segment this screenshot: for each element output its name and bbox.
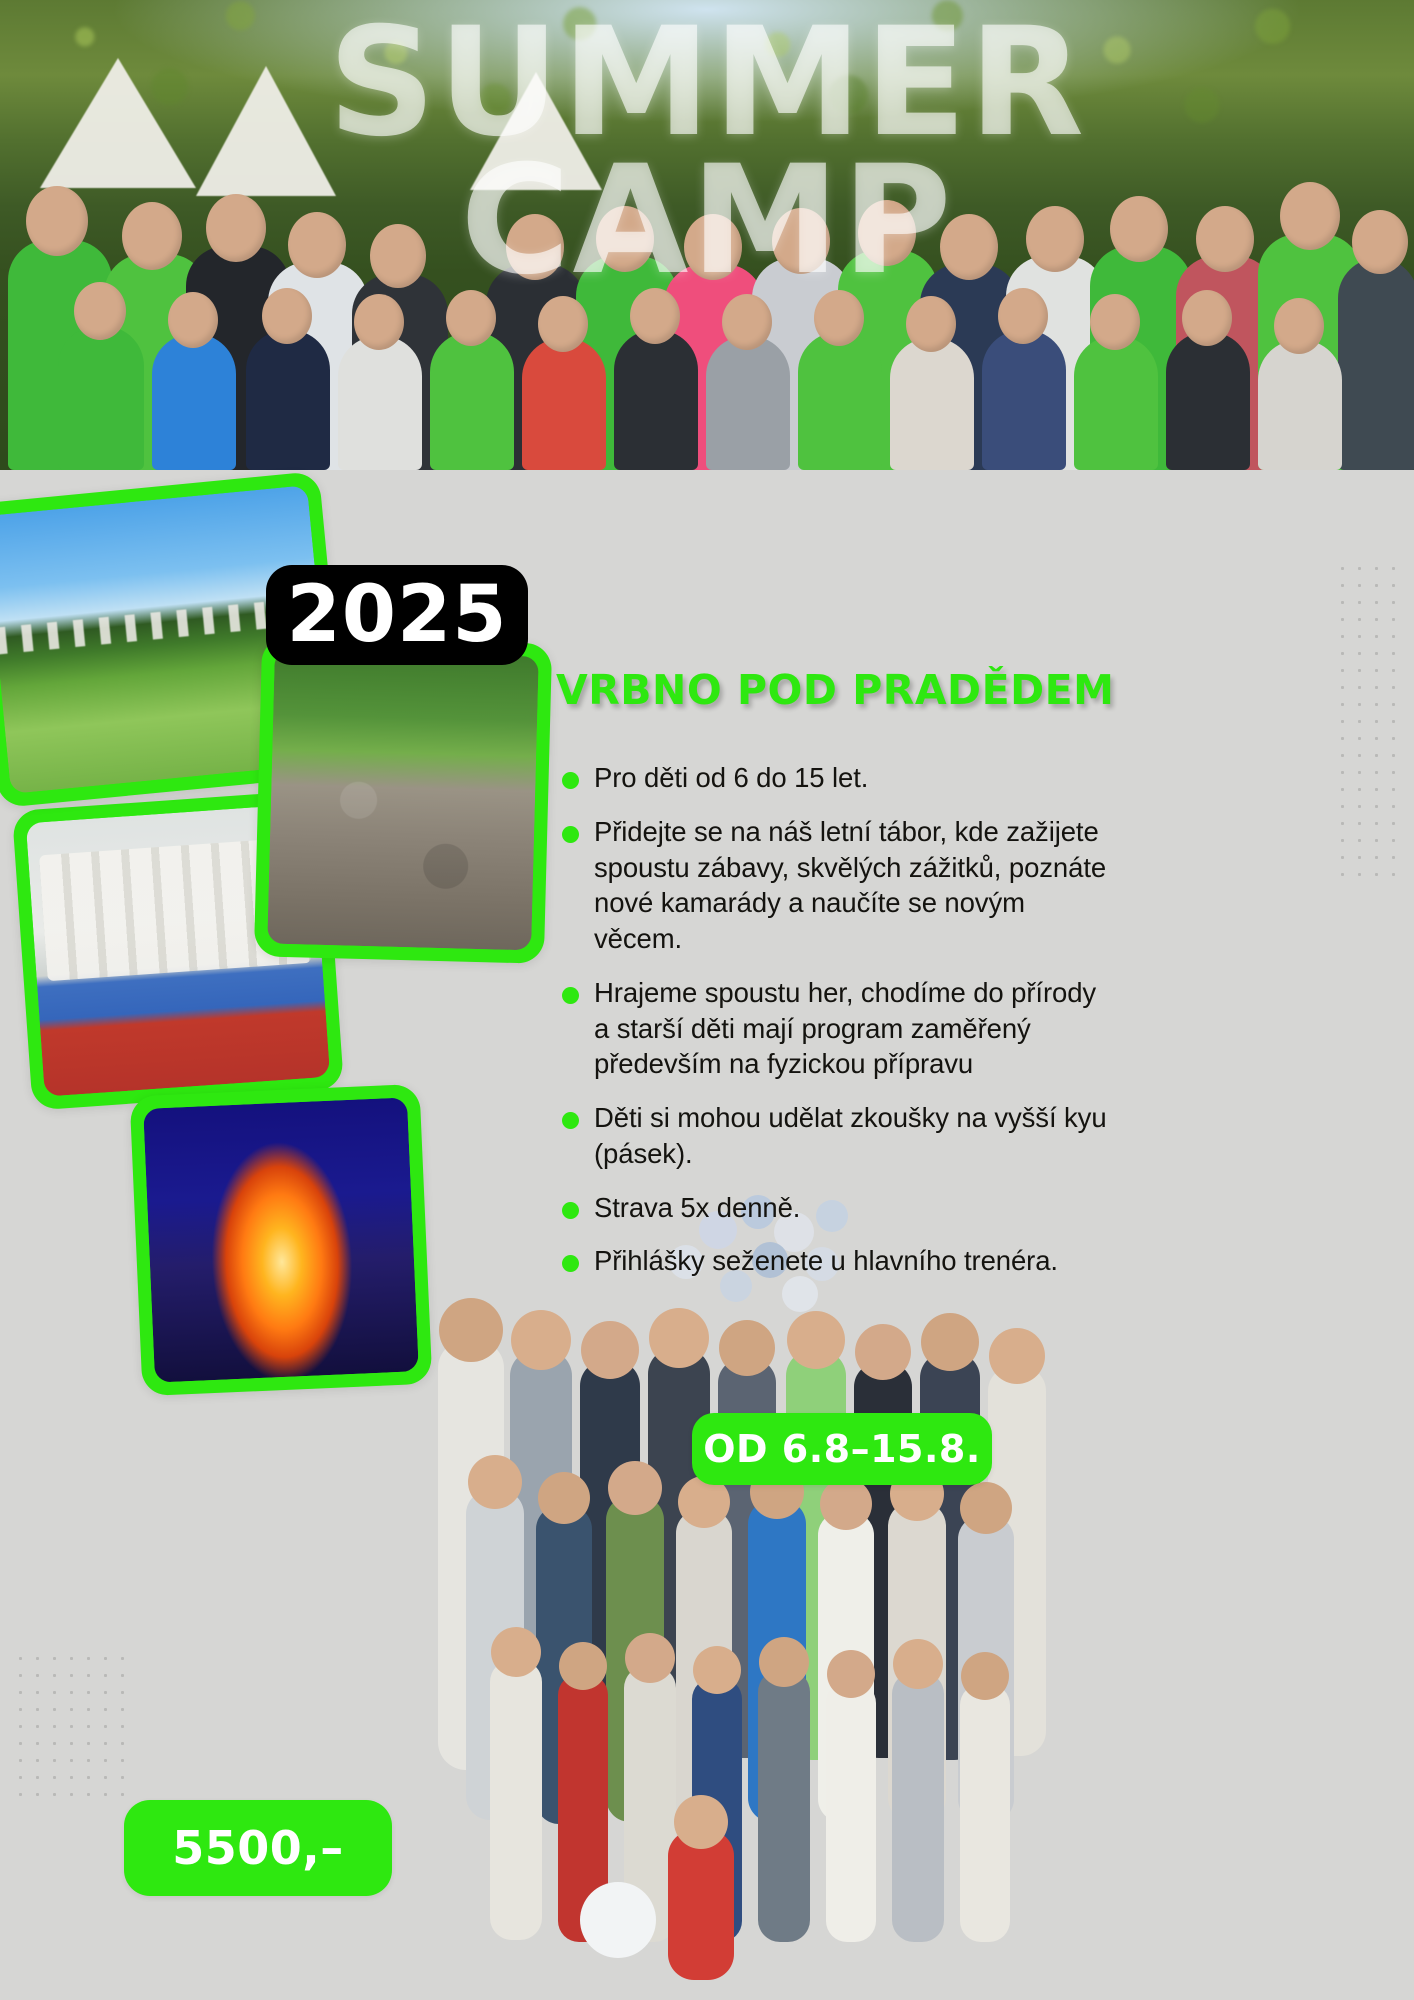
price-badge-label: 5500,–	[172, 1821, 344, 1875]
hiking-kids-photo	[254, 636, 552, 963]
price-badge: 5500,–	[124, 1800, 392, 1896]
list-item: Přidejte se na náš letní tábor, kde zaži…	[556, 814, 1116, 957]
hiking-image	[267, 650, 539, 951]
list-item: Strava 5x denně.	[556, 1190, 1116, 1226]
bonfire-image	[143, 1097, 419, 1382]
group-photo-bottom-illustration	[418, 1190, 1098, 1990]
list-item: Přihlášky seženete u hlavního trenéra.	[556, 1243, 1116, 1279]
list-item: Děti si mohou udělat zkoušky na vyšší ky…	[556, 1100, 1116, 1172]
date-badge: OD 6.8–15.8.	[692, 1413, 992, 1485]
poster-root: SUMMER CAMP	[0, 0, 1414, 2000]
date-badge-label: OD 6.8–15.8.	[703, 1427, 981, 1471]
year-badge: 2025	[266, 565, 528, 665]
group-photo-bottom	[418, 1190, 1098, 1990]
year-badge-label: 2025	[286, 570, 507, 660]
crowd-silhouettes	[0, 140, 1414, 470]
info-bullet-list: Pro děti od 6 do 15 let. Přidejte se na …	[556, 760, 1116, 1297]
list-item: Pro děti od 6 do 15 let.	[556, 760, 1116, 796]
bonfire-photo	[130, 1084, 433, 1396]
dot-pattern-left	[12, 1650, 132, 1800]
hero-photo-banner: SUMMER CAMP	[0, 0, 1414, 470]
list-item: Hrajeme spoustu her, chodíme do přírody …	[556, 975, 1116, 1082]
dot-pattern-right	[1334, 560, 1408, 890]
page-title: VRBNO POD PRADĚDEM	[556, 666, 1114, 714]
